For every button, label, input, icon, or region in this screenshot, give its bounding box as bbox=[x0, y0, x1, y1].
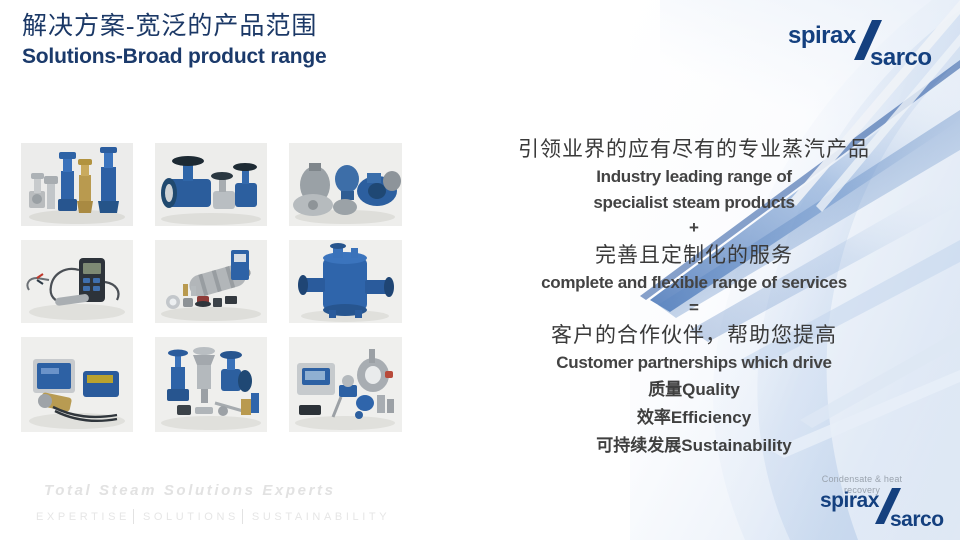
message-operator-equals: = bbox=[470, 296, 918, 320]
footer-pillar-sustainability: SUSTAINABILITY bbox=[252, 511, 390, 523]
slide-canvas: 解决方案-宽泛的产品范围 Solutions-Broad product ran… bbox=[0, 0, 960, 540]
page-title: 解决方案-宽泛的产品范围 Solutions-Broad product ran… bbox=[22, 12, 327, 70]
flow-metering-system-image bbox=[289, 337, 402, 432]
logo-text-sarco: sarco bbox=[870, 44, 932, 70]
heat-exchanger-packages-image bbox=[155, 240, 267, 323]
message-line-8: 客户的合作伙伴，帮助您提高 bbox=[470, 320, 918, 350]
safety-valves-image bbox=[21, 143, 133, 226]
logo-text-spirax: spirax bbox=[788, 22, 857, 49]
footer-pillar-solutions: SOLUTIONS bbox=[143, 511, 239, 523]
product-tile-safety-valves bbox=[21, 143, 133, 226]
control-valves-assortment-image bbox=[155, 337, 267, 432]
message-line-2: Industry leading range of bbox=[470, 164, 918, 190]
page-title-chinese: 解决方案-宽泛的产品范围 bbox=[22, 12, 327, 42]
steam-traps-image bbox=[289, 143, 402, 226]
message-line-quality: 质量Quality bbox=[470, 376, 918, 404]
product-tile-deaerator-vessel bbox=[289, 240, 402, 323]
handheld-test-instrument-image bbox=[21, 240, 133, 323]
spirax-sarco-logo: spirax sarco bbox=[786, 18, 936, 70]
logo-footer-text-sarco: sarco bbox=[890, 508, 944, 530]
message-line-sustainability: 可持续发展Sustainability bbox=[470, 432, 918, 460]
footer-pillar-divider-1 bbox=[133, 509, 134, 524]
message-operator-plus: + bbox=[470, 216, 918, 240]
product-tile-handheld-test-instrument bbox=[21, 240, 133, 323]
spirax-sarco-logo-footer-mark: spirax sarco bbox=[820, 484, 946, 530]
control-units-sensors-image bbox=[21, 337, 133, 432]
product-tile-steam-traps bbox=[289, 143, 402, 226]
spirax-sarco-logo-footer: spirax sarco bbox=[820, 484, 946, 530]
footer-pillars: EXPERTISE SOLUTIONS SUSTAINABILITY bbox=[36, 509, 390, 524]
product-tile-control-units-sensors bbox=[21, 337, 133, 432]
message-line-3: specialist steam products bbox=[470, 190, 918, 216]
message-block: 引领业界的应有尽有的专业蒸汽产品 Industry leading range … bbox=[470, 134, 918, 460]
footer-tagline: Total Steam Solutions Experts bbox=[44, 482, 336, 499]
product-tile-control-valves-assortment bbox=[155, 337, 267, 432]
message-line-efficiency: 效率Efficiency bbox=[470, 404, 918, 432]
message-line-6: complete and flexible range of services bbox=[470, 270, 918, 296]
isolation-valves-image bbox=[155, 143, 267, 226]
message-line-9: Customer partnerships which drive bbox=[470, 350, 918, 376]
product-tile-flow-metering-system bbox=[289, 337, 402, 432]
page-title-english: Solutions-Broad product range bbox=[22, 44, 327, 70]
spirax-sarco-logo-mark: spirax sarco bbox=[786, 18, 936, 70]
footer-pillar-divider-2 bbox=[242, 509, 243, 524]
product-tile-isolation-valves bbox=[155, 143, 267, 226]
product-image-grid bbox=[21, 143, 402, 433]
message-line-1: 引领业界的应有尽有的专业蒸汽产品 bbox=[470, 134, 918, 164]
product-tile-heat-exchanger-packages bbox=[155, 240, 267, 323]
logo-footer-text-spirax: spirax bbox=[820, 489, 880, 512]
footer-pillar-expertise: EXPERTISE bbox=[36, 511, 130, 523]
deaerator-vessel-image bbox=[289, 240, 402, 323]
message-line-5: 完善且定制化的服务 bbox=[470, 240, 918, 270]
